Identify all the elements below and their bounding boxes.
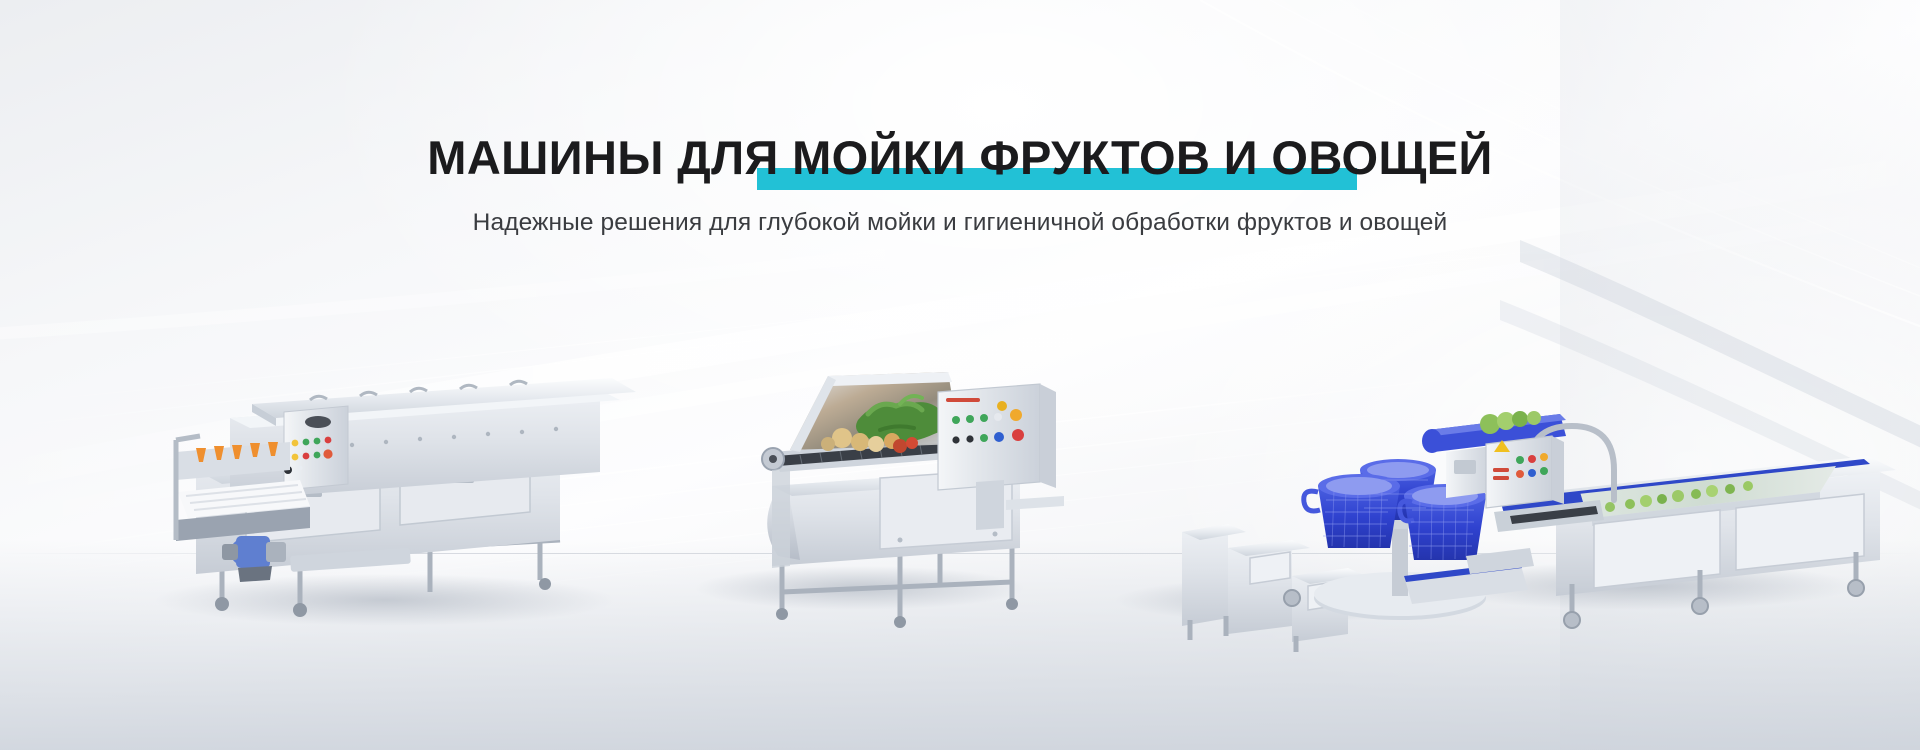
floor-horizon-line: [0, 553, 1920, 554]
control-panel-machine-4: [1486, 436, 1564, 508]
page-title: МАШИНЫ ДЛЯ МОЙКИ ФРУКТОВ И ОВОЩЕЙ: [427, 128, 1492, 188]
control-panel-machine-1: [284, 406, 348, 490]
control-panel-machine-2: [938, 384, 1056, 530]
hero-text-block: МАШИНЫ ДЛЯ МОЙКИ ФРУКТОВ И ОВОЩЕЙ Надежн…: [0, 128, 1920, 239]
hero-banner: МАШИНЫ ДЛЯ МОЙКИ ФРУКТОВ И ОВОЩЕЙ Надежн…: [0, 0, 1920, 750]
produce-in-tank: [1605, 481, 1753, 512]
title-wrapper: МАШИНЫ ДЛЯ МОЙКИ ФРУКТОВ И ОВОЩЕЙ: [427, 128, 1492, 188]
produce-fruits: [821, 428, 918, 453]
produce-greens: [856, 396, 946, 443]
floor-shadow: [0, 540, 1920, 750]
page-subtitle: Надежные решения для глубокой мойки и ги…: [0, 207, 1920, 239]
blue-conveyor: [1422, 411, 1566, 498]
